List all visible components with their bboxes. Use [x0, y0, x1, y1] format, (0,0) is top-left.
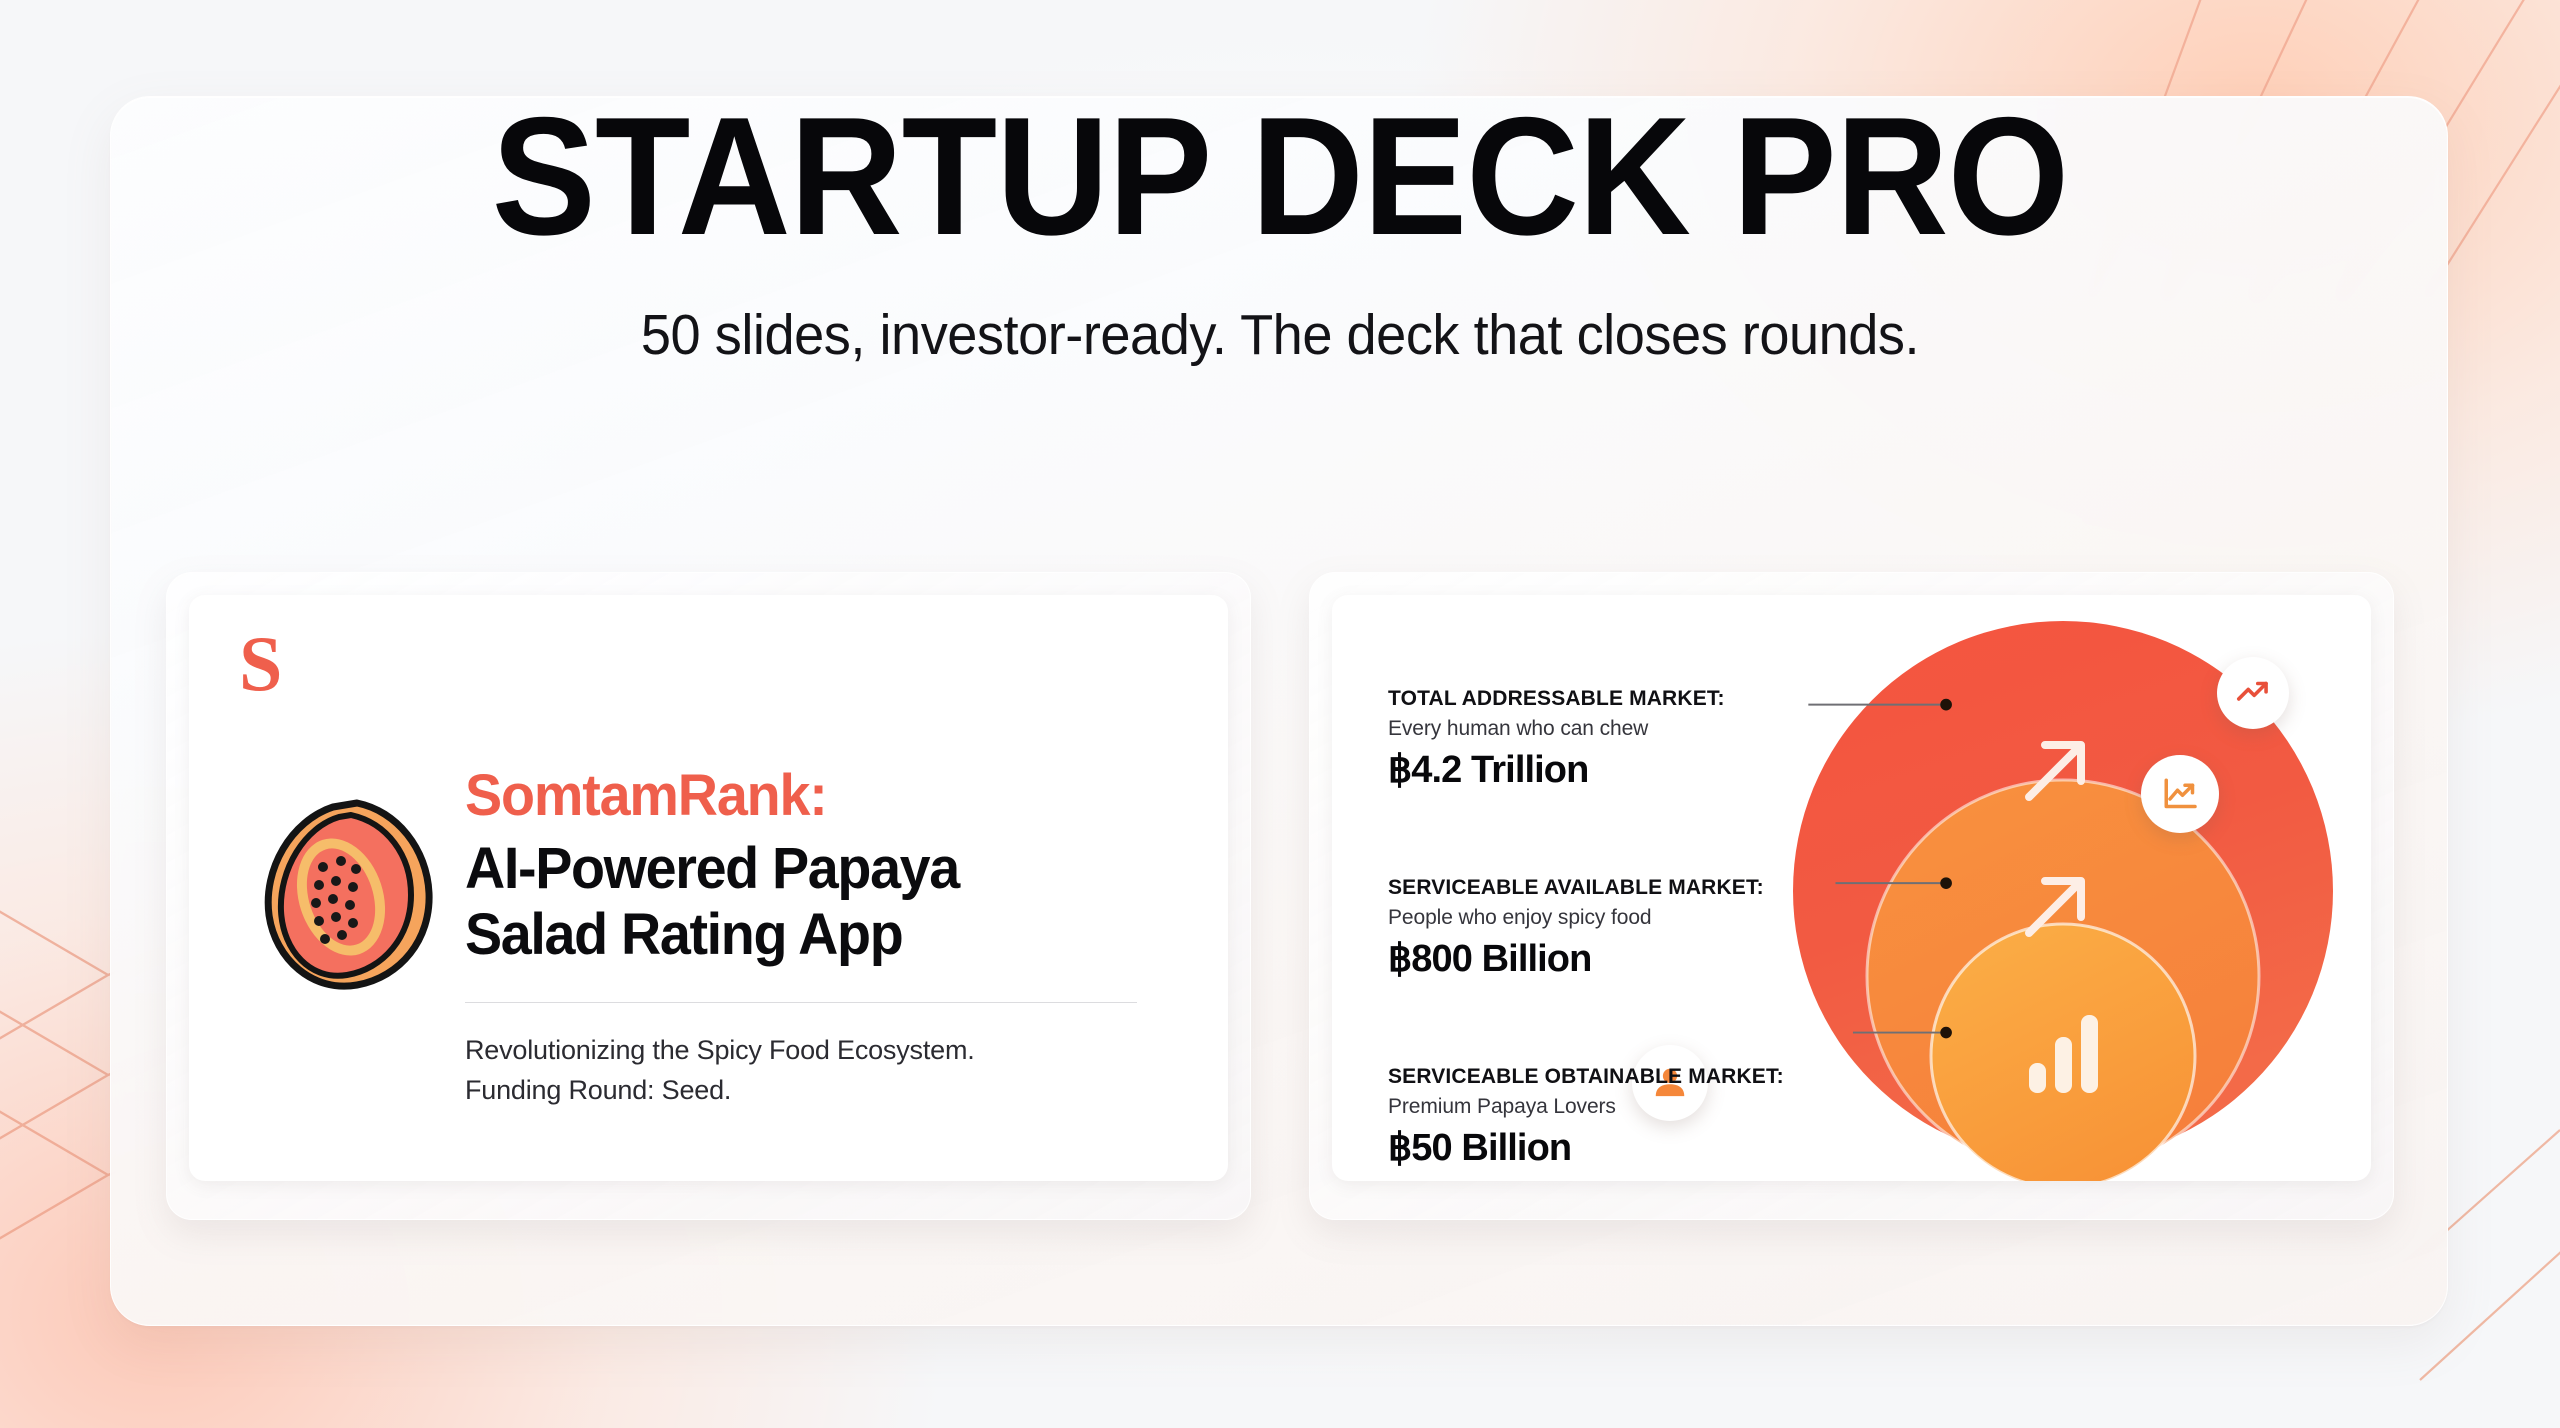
footnote-line-1: Revolutionizing the Spicy Food Ecosystem… — [465, 1031, 1165, 1071]
trending-up-badge — [2217, 657, 2289, 729]
market-tier-tam: TOTAL ADDRESSABLE MARKET: Every human wh… — [1388, 687, 1948, 792]
som-description: Premium Papaya Lovers — [1388, 1095, 1948, 1119]
market-tier-sam: SERVICEABLE AVAILABLE MARKET: People who… — [1388, 876, 1948, 981]
line-chart-badge — [2141, 755, 2219, 833]
papaya-half-icon — [261, 793, 437, 993]
sam-value: ฿800 Billion — [1388, 936, 1948, 981]
brand-logo-icon: S — [239, 625, 282, 703]
hero-header: STARTUP DECK PRO 50 slides, investor-rea… — [0, 92, 2560, 368]
title-slide-copy: SomtamRank: AI-Powered Papaya Salad Rati… — [465, 765, 1165, 1111]
market-tier-som: SERVICEABLE OBTAINABLE MARKET: Premium P… — [1388, 1065, 1948, 1170]
som-title: SERVICEABLE OBTAINABLE MARKET: — [1388, 1065, 1948, 1089]
sam-title: SERVICEABLE AVAILABLE MARKET: — [1388, 876, 1948, 900]
product-tagline: AI-Powered Papaya Salad Rating App — [465, 836, 1137, 968]
page-title: STARTUP DECK PRO — [90, 92, 2471, 260]
sam-description: People who enjoy spicy food — [1388, 906, 1948, 930]
product-name: SomtamRank: — [465, 765, 1137, 828]
footnote-line-2: Funding Round: Seed. — [465, 1071, 1165, 1111]
line-chart-icon — [2160, 774, 2200, 814]
tam-description: Every human who can chew — [1388, 717, 1948, 741]
tam-value: ฿4.2 Trillion — [1388, 747, 1948, 792]
slide-card-title[interactable]: S — [166, 572, 1251, 1220]
slide-preview-row: S — [0, 572, 2560, 1220]
market-tier-labels: TOTAL ADDRESSABLE MARKET: Every human wh… — [1388, 687, 1948, 1170]
tam-title: TOTAL ADDRESSABLE MARKET: — [1388, 687, 1948, 711]
divider — [465, 1002, 1137, 1003]
slide-card-market-size[interactable]: TOTAL ADDRESSABLE MARKET: Every human wh… — [1309, 572, 2394, 1220]
screenshot-canvas: STARTUP DECK PRO 50 slides, investor-rea… — [0, 0, 2560, 1428]
tagline-line-1: AI-Powered Papaya — [465, 836, 1137, 902]
slide-canvas-title: S — [189, 595, 1228, 1181]
page-subtitle: 50 slides, investor-ready. The deck that… — [64, 302, 2496, 368]
som-value: ฿50 Billion — [1388, 1125, 1948, 1170]
trending-up-icon — [2234, 674, 2272, 712]
tagline-line-2: Salad Rating App — [465, 902, 1137, 968]
slide-canvas-market-size: TOTAL ADDRESSABLE MARKET: Every human wh… — [1332, 595, 2371, 1181]
slide-footnote: Revolutionizing the Spicy Food Ecosystem… — [465, 1031, 1165, 1111]
